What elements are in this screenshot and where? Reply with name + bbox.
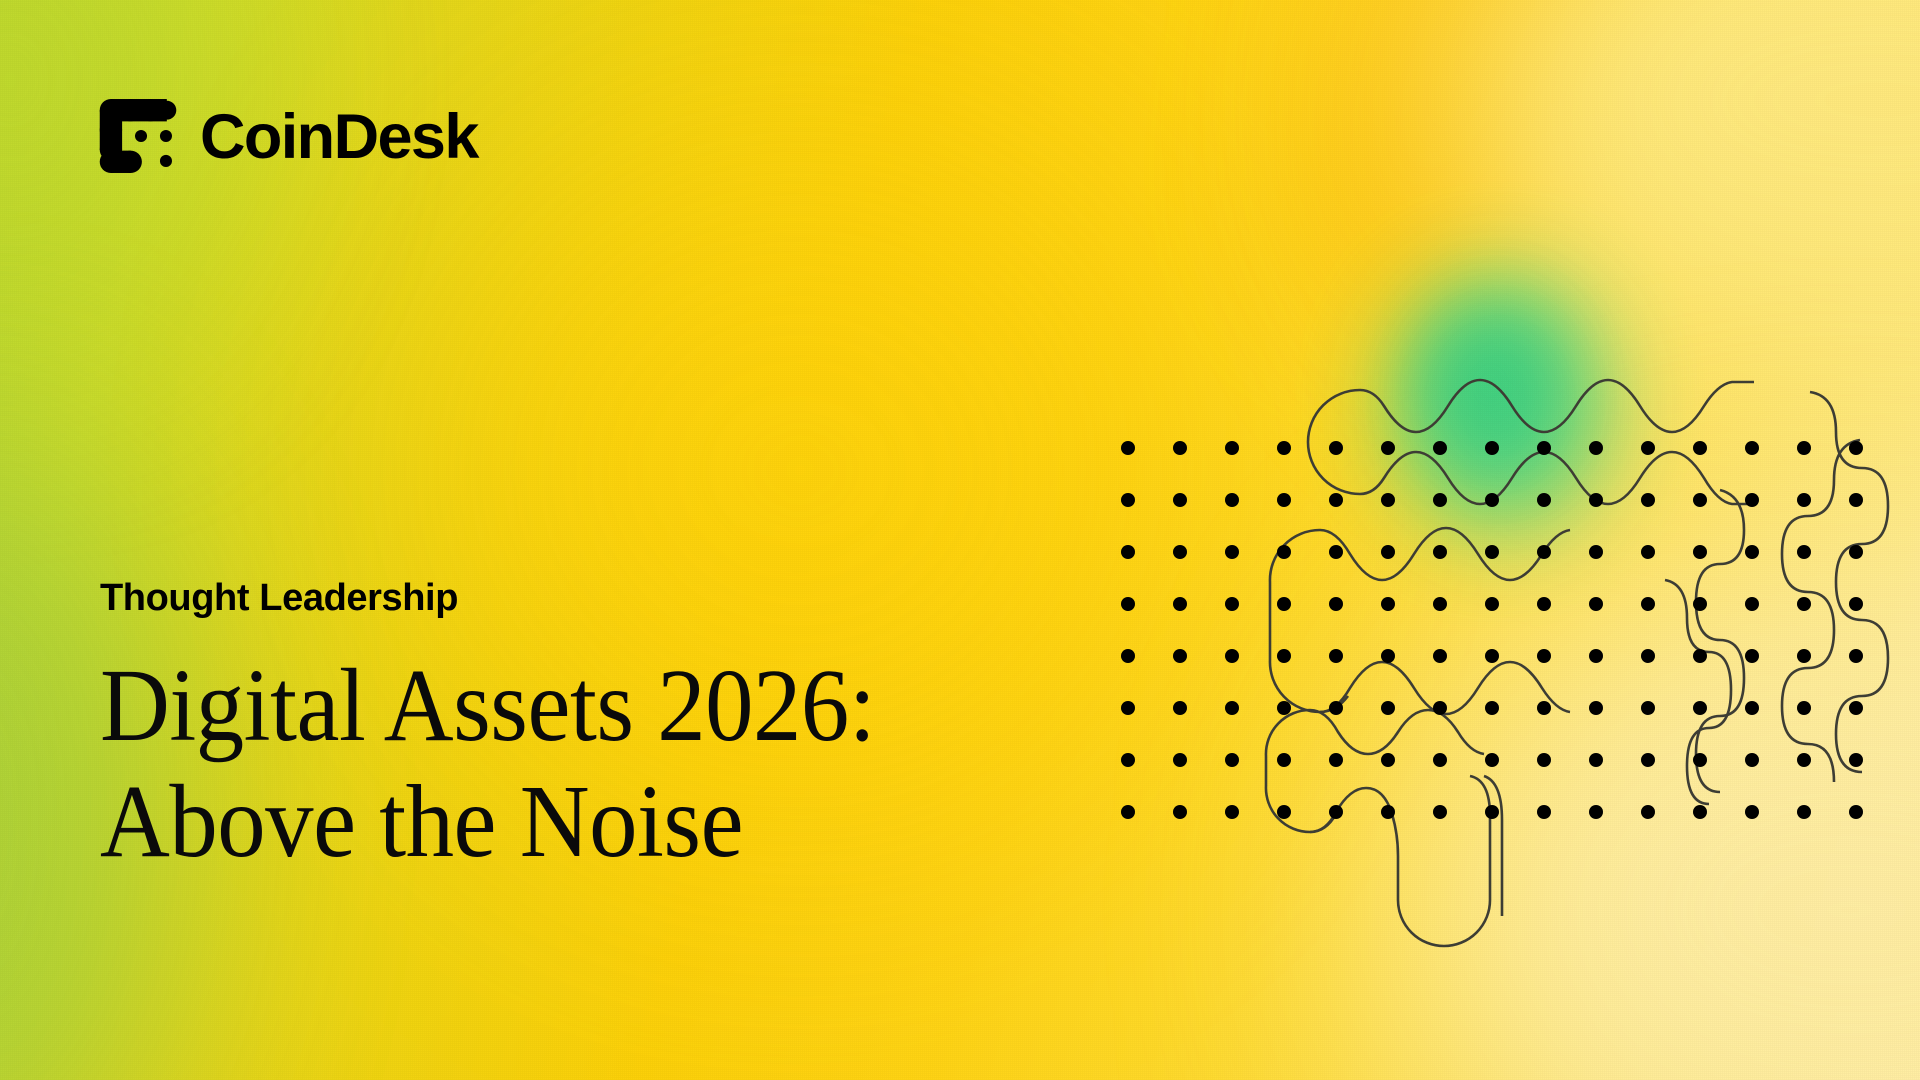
grid-dot	[1745, 805, 1759, 819]
grid-dot	[1173, 701, 1187, 715]
grid-dot	[1277, 493, 1291, 507]
eyebrow-label: Thought Leadership	[100, 578, 1100, 620]
grid-dot	[1485, 493, 1499, 507]
grid-dot	[1381, 753, 1395, 767]
grid-dot	[1433, 597, 1447, 611]
grid-dot	[1277, 701, 1291, 715]
grid-dot	[1641, 493, 1655, 507]
grid-dot	[1693, 805, 1707, 819]
grid-dot	[1225, 597, 1239, 611]
grid-dot	[1745, 597, 1759, 611]
grid-dot	[1745, 753, 1759, 767]
grid-dot	[1381, 441, 1395, 455]
grid-dot	[1745, 701, 1759, 715]
grid-dot	[1225, 701, 1239, 715]
grid-dot	[1381, 805, 1395, 819]
grid-dot	[1225, 493, 1239, 507]
grid-dot	[1485, 597, 1499, 611]
grid-dot	[1329, 701, 1343, 715]
grid-dot	[1537, 805, 1551, 819]
grid-dot	[1537, 545, 1551, 559]
copy-block: Thought Leadership Digital Assets 2026: …	[100, 578, 1100, 881]
grid-dot	[1225, 649, 1239, 663]
grid-dot	[1433, 805, 1447, 819]
grid-dot	[1589, 649, 1603, 663]
grid-dot	[1693, 441, 1707, 455]
grid-dot	[1485, 753, 1499, 767]
grid-dot	[1641, 701, 1655, 715]
grid-dot	[1121, 805, 1135, 819]
grid-dot	[1329, 753, 1343, 767]
grid-dot	[1485, 701, 1499, 715]
grid-dot	[1745, 649, 1759, 663]
grid-dot	[1121, 493, 1135, 507]
coindesk-wordmark: CoinDesk	[200, 106, 478, 169]
grid-dot	[1225, 753, 1239, 767]
grid-dot	[1849, 701, 1863, 715]
grid-dot	[1589, 701, 1603, 715]
grid-dot	[1693, 545, 1707, 559]
grid-dot	[1693, 701, 1707, 715]
grid-dot	[1849, 597, 1863, 611]
wavy-blob-line-graphic	[1160, 280, 1920, 960]
grid-dot	[1121, 545, 1135, 559]
grid-dot	[1121, 649, 1135, 663]
grid-dot	[1693, 493, 1707, 507]
grid-dot	[1589, 441, 1603, 455]
grid-dot	[1225, 805, 1239, 819]
grid-dot	[1797, 493, 1811, 507]
grid-dot	[1433, 493, 1447, 507]
grid-dot	[1173, 493, 1187, 507]
grid-dot	[1693, 597, 1707, 611]
grid-dot	[1589, 545, 1603, 559]
dot-grid	[1121, 441, 1863, 819]
grid-dot	[1329, 545, 1343, 559]
grid-dot	[1121, 701, 1135, 715]
grid-dot	[1173, 649, 1187, 663]
grid-dot	[1433, 441, 1447, 455]
grid-dot	[1381, 701, 1395, 715]
grid-dot	[1121, 441, 1135, 455]
grid-dot	[1693, 649, 1707, 663]
grid-dot	[1537, 441, 1551, 455]
grid-dot	[1381, 545, 1395, 559]
grid-dot	[1849, 649, 1863, 663]
grid-dot	[1329, 649, 1343, 663]
grid-dot	[1849, 493, 1863, 507]
grid-dot	[1589, 753, 1603, 767]
grid-dot	[1173, 597, 1187, 611]
grid-dot	[1225, 441, 1239, 455]
grid-dot	[1277, 753, 1291, 767]
grid-dot	[1485, 649, 1499, 663]
grid-dot	[1121, 753, 1135, 767]
grid-dot	[1329, 441, 1343, 455]
grid-dot	[1537, 701, 1551, 715]
headline-line-2: Above the Noise	[100, 764, 1030, 880]
promo-banner: CoinDesk Thought Leadership Digital Asse…	[0, 0, 1920, 1080]
grid-dot	[1173, 753, 1187, 767]
grid-dot	[1693, 753, 1707, 767]
grid-dot	[1537, 649, 1551, 663]
grid-dot	[1797, 701, 1811, 715]
grid-dot	[1589, 805, 1603, 819]
grid-dot	[1797, 597, 1811, 611]
grid-dot	[1797, 753, 1811, 767]
grid-dot	[1745, 545, 1759, 559]
grid-dot	[1173, 441, 1187, 455]
grid-dot	[1641, 753, 1655, 767]
grid-dot	[1641, 805, 1655, 819]
grid-dot	[1849, 545, 1863, 559]
grid-dot	[1277, 545, 1291, 559]
grid-dot	[1485, 545, 1499, 559]
grid-dot	[1329, 805, 1343, 819]
grid-dot	[1329, 597, 1343, 611]
grid-dot	[1797, 805, 1811, 819]
grid-dot	[1797, 649, 1811, 663]
grid-dot	[1381, 597, 1395, 611]
grid-dot	[1225, 545, 1239, 559]
grid-dot	[1173, 805, 1187, 819]
coindesk-blob-c-mark-icon	[92, 93, 178, 184]
coindesk-logo[interactable]: CoinDesk	[92, 96, 478, 180]
grid-dot	[1485, 805, 1499, 819]
grid-dot	[1589, 493, 1603, 507]
grid-dot	[1849, 441, 1863, 455]
grid-dot	[1433, 545, 1447, 559]
grid-dot	[1277, 649, 1291, 663]
grid-dot	[1641, 649, 1655, 663]
grid-dot	[1745, 441, 1759, 455]
grid-dot	[1277, 805, 1291, 819]
grid-dot	[1745, 493, 1759, 507]
grid-dot	[1277, 441, 1291, 455]
page-title: Digital Assets 2026: Above the Noise	[100, 648, 1030, 881]
grid-dot	[1537, 753, 1551, 767]
grid-dot	[1537, 597, 1551, 611]
grid-dot	[1849, 753, 1863, 767]
grid-dot	[1797, 441, 1811, 455]
headline-line-1: Digital Assets 2026:	[100, 648, 1030, 764]
grid-dot	[1433, 701, 1447, 715]
grid-dot	[1433, 649, 1447, 663]
grid-dot	[1277, 597, 1291, 611]
grid-dot	[1121, 597, 1135, 611]
grid-dot	[1641, 545, 1655, 559]
grid-dot	[1381, 493, 1395, 507]
grid-dot	[1537, 493, 1551, 507]
grid-dot	[1641, 597, 1655, 611]
grid-dot	[1381, 649, 1395, 663]
grid-dot	[1329, 493, 1343, 507]
grid-dot	[1797, 545, 1811, 559]
grid-dot	[1589, 597, 1603, 611]
grid-dot	[1641, 441, 1655, 455]
grid-dot	[1485, 441, 1499, 455]
grid-dot	[1433, 753, 1447, 767]
grid-dot	[1849, 805, 1863, 819]
grid-dot	[1173, 545, 1187, 559]
